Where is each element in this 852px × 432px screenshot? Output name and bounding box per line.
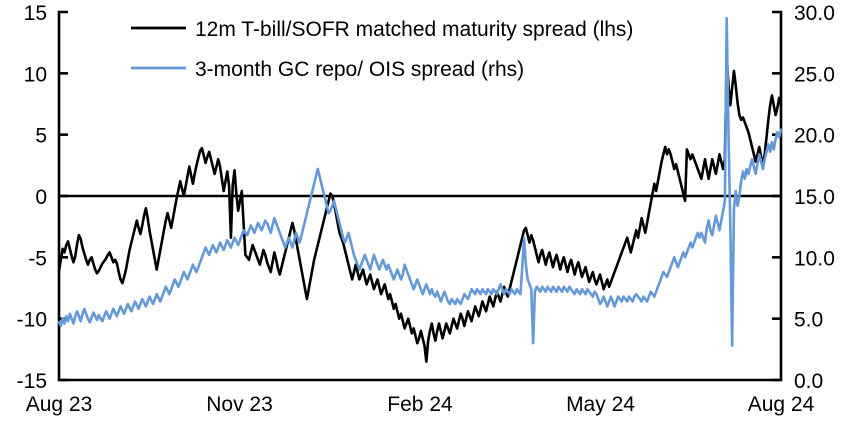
legend-label-tbill-sofr: 12m T-bill/SOFR matched maturity spread … <box>195 18 633 41</box>
x-tick-label: Nov 23 <box>206 393 273 416</box>
left-tick-label: 15 <box>24 2 47 25</box>
right-tick-label: 10.0 <box>794 247 835 270</box>
right-tick-label: 20.0 <box>794 125 835 148</box>
right-tick-label: 30.0 <box>794 2 835 25</box>
x-tick-label: Feb 24 <box>387 393 453 416</box>
spread-line-chart: 151050-5-10-15 30.025.020.015.010.05.00.… <box>0 0 852 432</box>
right-tick-label: 25.0 <box>794 63 835 86</box>
right-tick-label: 15.0 <box>794 186 835 209</box>
x-tick-label: Aug 23 <box>26 393 93 416</box>
chart-container: 151050-5-10-15 30.025.020.015.010.05.00.… <box>0 0 852 432</box>
left-tick-label: -5 <box>28 247 47 270</box>
x-tick-label: Aug 24 <box>748 393 815 416</box>
left-tick-label: -15 <box>17 370 47 393</box>
left-tick-label: 5 <box>35 125 47 148</box>
right-tick-label: 0.0 <box>794 370 823 393</box>
left-tick-label: 10 <box>24 63 47 86</box>
left-tick-label: -10 <box>17 309 47 332</box>
x-tick-label: May 24 <box>566 393 635 416</box>
left-tick-label: 0 <box>35 186 47 209</box>
legend-label-gc-repo-ois: 3-month GC repo/ OIS spread (rhs) <box>195 58 524 81</box>
right-tick-label: 5.0 <box>794 309 823 332</box>
